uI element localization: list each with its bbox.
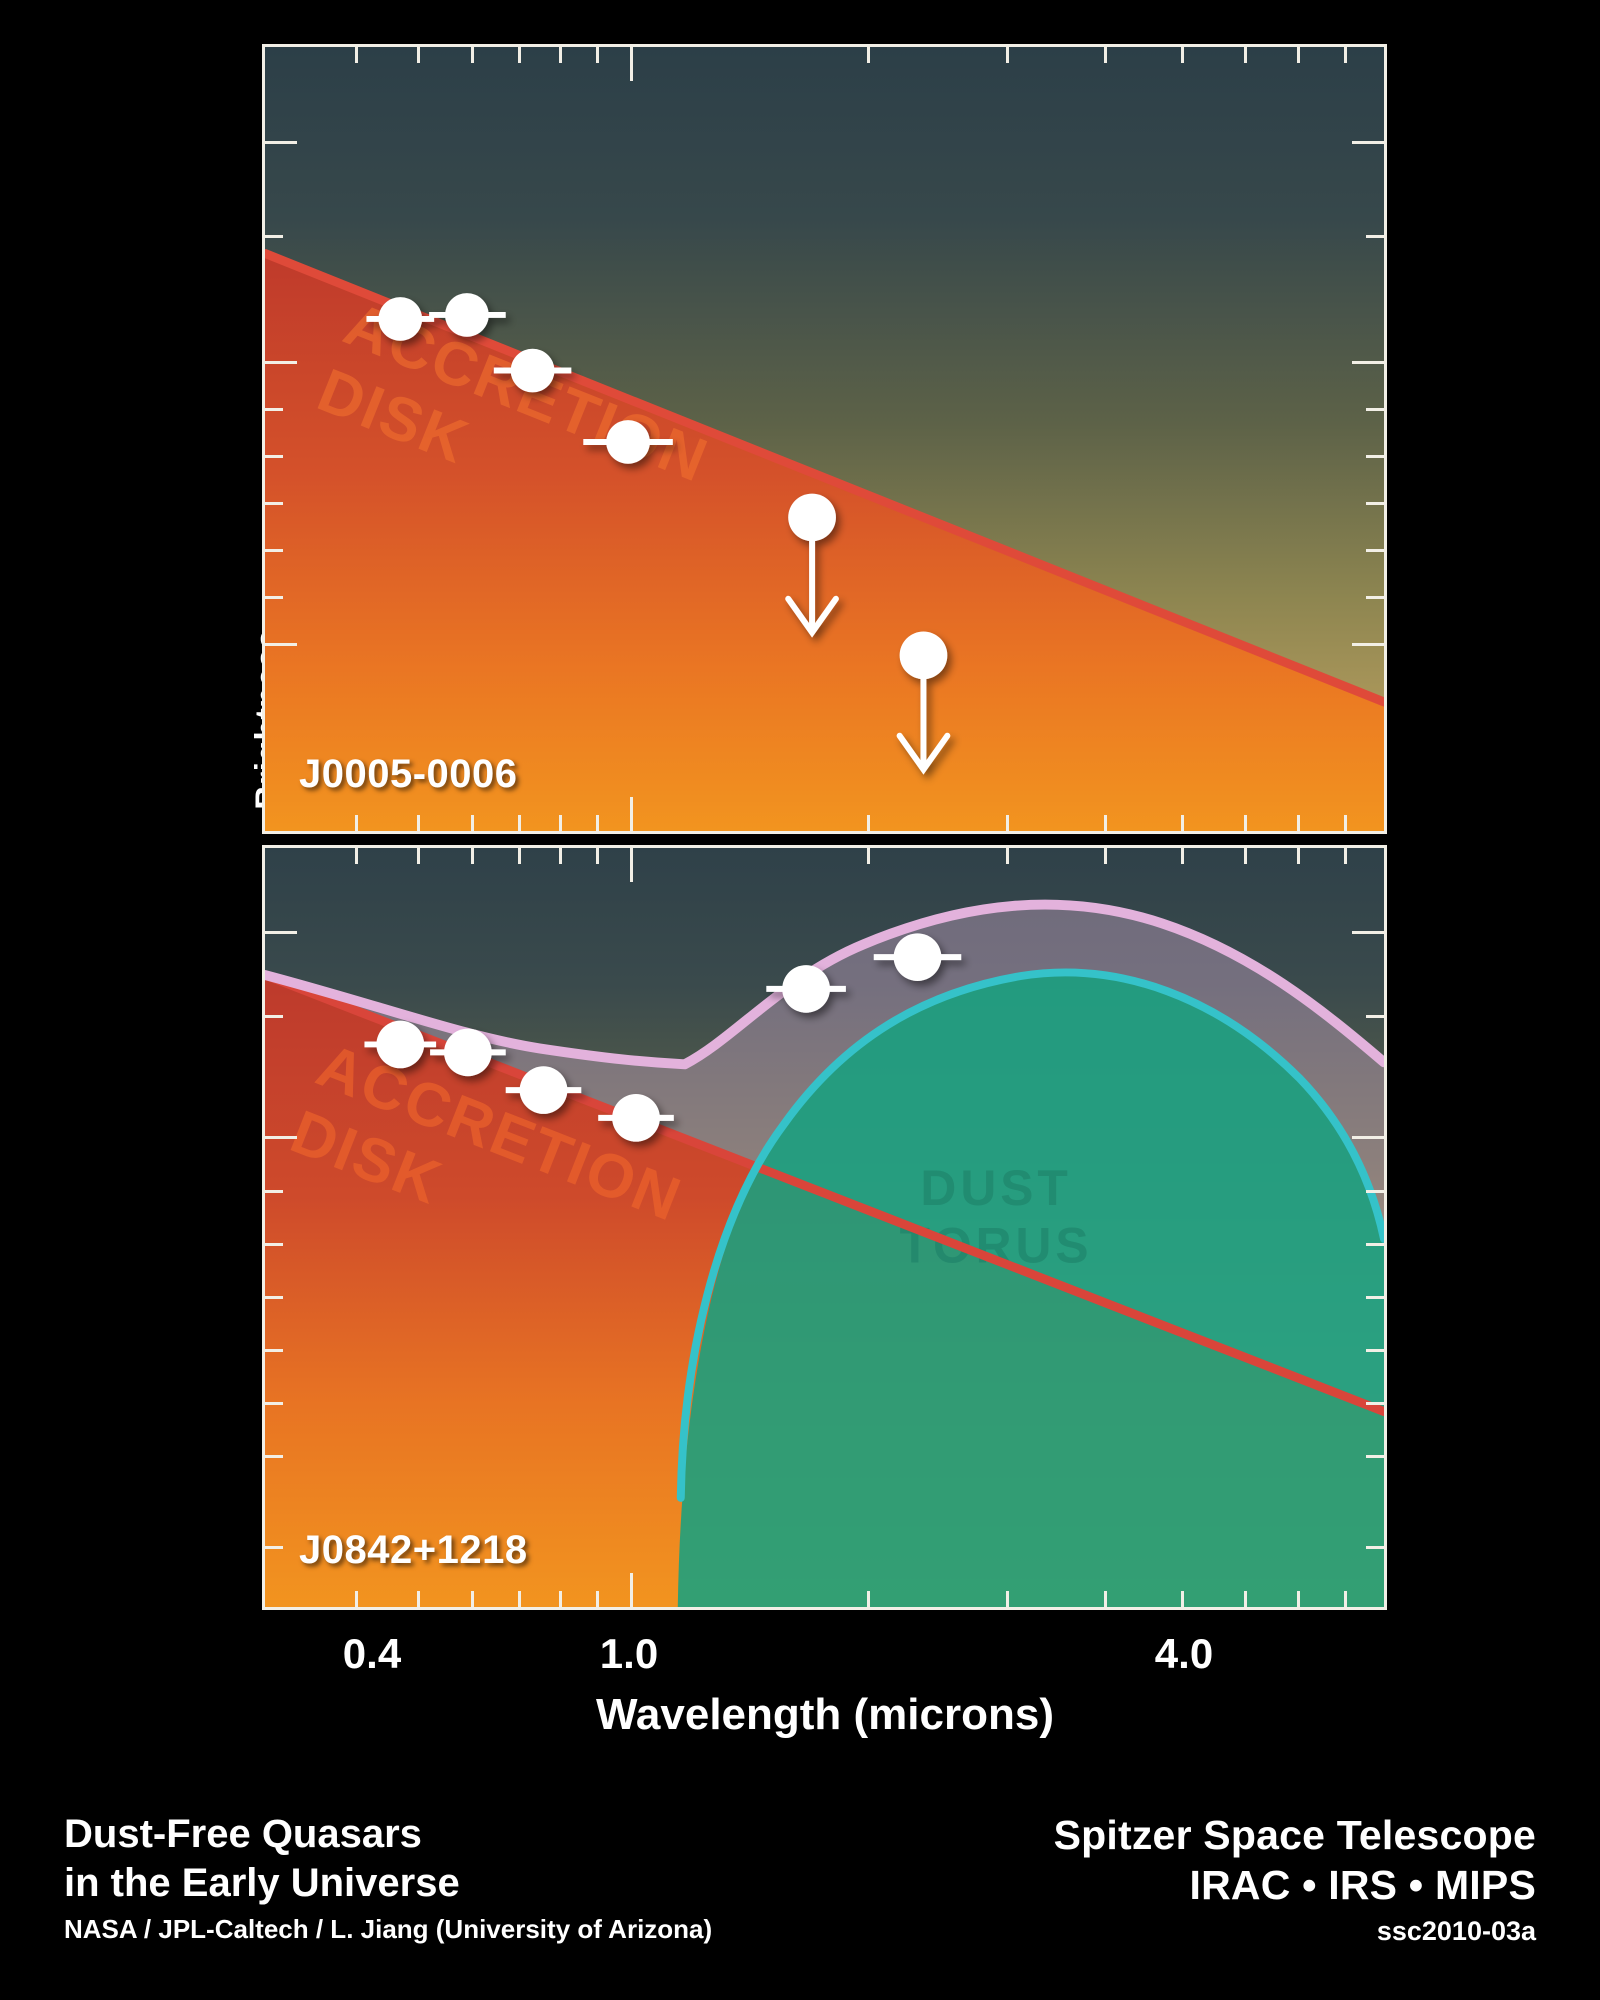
caption-title-line1: Dust-Free Quasars bbox=[64, 1810, 712, 1859]
figure-canvas: Brightness bbox=[0, 0, 1600, 2000]
tick-x bbox=[1344, 848, 1347, 864]
tick-x bbox=[1104, 815, 1107, 831]
tick-x bbox=[1006, 47, 1009, 63]
image-id: ssc2010-03a bbox=[1054, 1916, 1536, 1947]
tick-y bbox=[265, 1402, 283, 1405]
tick-x bbox=[630, 47, 633, 81]
tick-y bbox=[265, 455, 283, 458]
tick-x bbox=[596, 47, 599, 63]
tick-y bbox=[1366, 596, 1384, 599]
tick-x bbox=[559, 848, 562, 864]
xtick-label-40: 4.0 bbox=[1155, 1630, 1213, 1678]
instrument-list: IRAC • IRS • MIPS bbox=[1054, 1860, 1536, 1910]
tick-x bbox=[355, 47, 358, 63]
panel-bottom-plot: DUST TORUS ACCRETION DISK bbox=[265, 848, 1384, 1607]
tick-x bbox=[596, 815, 599, 831]
panel-title-bottom: J0842+1218 bbox=[299, 1528, 528, 1573]
xtick-label-04: 0.4 bbox=[343, 1630, 401, 1678]
tick-x bbox=[471, 1591, 474, 1607]
tick-x bbox=[518, 1591, 521, 1607]
tick-x bbox=[518, 815, 521, 831]
tick-x bbox=[471, 815, 474, 831]
tick-x bbox=[518, 47, 521, 63]
tick-y bbox=[265, 1349, 283, 1352]
x-axis-label: Wavelength (microns) bbox=[596, 1690, 1054, 1740]
tick-y bbox=[265, 141, 297, 144]
tick-x bbox=[1344, 1591, 1347, 1607]
tick-x bbox=[1181, 1591, 1184, 1607]
tick-y bbox=[1366, 455, 1384, 458]
tick-y bbox=[265, 502, 283, 505]
caption-title-line2: in the Early Universe bbox=[64, 1859, 712, 1908]
tick-y bbox=[265, 549, 283, 552]
tick-y bbox=[265, 931, 297, 934]
tick-x bbox=[1181, 47, 1184, 63]
tick-x bbox=[1181, 815, 1184, 831]
tick-y bbox=[265, 235, 283, 238]
tick-x bbox=[867, 848, 870, 864]
tick-y bbox=[1352, 141, 1384, 144]
svg-text:DUST: DUST bbox=[920, 1160, 1071, 1216]
tick-x bbox=[1006, 1591, 1009, 1607]
panel-j0005-0006: ACCRETION DISK bbox=[262, 44, 1387, 834]
tick-y bbox=[1366, 1402, 1384, 1405]
panel-title-top: J0005-0006 bbox=[299, 752, 518, 797]
tick-x bbox=[1244, 815, 1247, 831]
telescope-name: Spitzer Space Telescope bbox=[1054, 1810, 1536, 1860]
tick-x bbox=[559, 47, 562, 63]
tick-x bbox=[1104, 47, 1107, 63]
tick-x bbox=[355, 1591, 358, 1607]
tick-x bbox=[417, 1591, 420, 1607]
tick-x bbox=[867, 1591, 870, 1607]
tick-x bbox=[518, 848, 521, 864]
caption-left: Dust-Free Quasars in the Early Universe … bbox=[64, 1810, 712, 1945]
tick-x bbox=[596, 1591, 599, 1607]
caption-block: Dust-Free Quasars in the Early Universe … bbox=[0, 1800, 1600, 2000]
tick-y bbox=[1352, 1136, 1384, 1139]
tick-x bbox=[1344, 47, 1347, 63]
tick-x bbox=[1181, 848, 1184, 864]
tick-x bbox=[867, 47, 870, 63]
tick-y bbox=[265, 361, 297, 364]
tick-y bbox=[1366, 1190, 1384, 1193]
tick-x bbox=[1006, 815, 1009, 831]
tick-y bbox=[265, 1296, 283, 1299]
tick-x bbox=[471, 848, 474, 864]
tick-x bbox=[1244, 47, 1247, 63]
tick-y bbox=[265, 596, 283, 599]
tick-y bbox=[265, 1136, 297, 1139]
tick-x bbox=[630, 848, 633, 882]
caption-right: Spitzer Space Telescope IRAC • IRS • MIP… bbox=[1054, 1810, 1536, 1947]
tick-x bbox=[867, 815, 870, 831]
tick-x bbox=[1244, 848, 1247, 864]
tick-y bbox=[1352, 361, 1384, 364]
tick-x bbox=[1104, 1591, 1107, 1607]
caption-credit: NASA / JPL-Caltech / L. Jiang (Universit… bbox=[64, 1914, 712, 1945]
tick-y bbox=[265, 1243, 283, 1246]
panel-top-plot: ACCRETION DISK bbox=[265, 47, 1384, 831]
svg-text:TORUS: TORUS bbox=[900, 1218, 1093, 1274]
tick-x bbox=[559, 815, 562, 831]
tick-y bbox=[1366, 1296, 1384, 1299]
tick-y bbox=[1366, 1349, 1384, 1352]
tick-y bbox=[265, 1015, 283, 1018]
tick-x bbox=[1104, 848, 1107, 864]
tick-y bbox=[1366, 408, 1384, 411]
tick-y bbox=[1352, 643, 1384, 646]
tick-y bbox=[265, 408, 283, 411]
tick-x bbox=[1297, 815, 1300, 831]
sed-figure: Brightness bbox=[0, 0, 1600, 1760]
tick-y bbox=[1366, 235, 1384, 238]
tick-x bbox=[559, 1591, 562, 1607]
tick-y bbox=[265, 1190, 283, 1193]
panel-j0842-1218: DUST TORUS ACCRETION DISK bbox=[262, 845, 1387, 1610]
tick-y bbox=[1366, 502, 1384, 505]
tick-y bbox=[265, 1546, 283, 1549]
tick-x bbox=[1297, 848, 1300, 864]
tick-x bbox=[630, 1573, 633, 1607]
tick-x bbox=[417, 848, 420, 864]
tick-y bbox=[265, 1455, 283, 1458]
tick-x bbox=[1244, 1591, 1247, 1607]
tick-y bbox=[1366, 1243, 1384, 1246]
tick-x bbox=[1006, 848, 1009, 864]
tick-y bbox=[1366, 549, 1384, 552]
tick-y bbox=[1366, 1546, 1384, 1549]
tick-x bbox=[630, 797, 633, 831]
tick-x bbox=[1297, 47, 1300, 63]
tick-x bbox=[596, 848, 599, 864]
tick-x bbox=[1297, 1591, 1300, 1607]
tick-x bbox=[417, 815, 420, 831]
tick-x bbox=[1344, 815, 1347, 831]
xtick-label-10: 1.0 bbox=[600, 1630, 658, 1678]
tick-y bbox=[1352, 931, 1384, 934]
tick-x bbox=[417, 47, 420, 63]
tick-x bbox=[355, 815, 358, 831]
tick-y bbox=[1366, 1015, 1384, 1018]
tick-x bbox=[471, 47, 474, 63]
tick-x bbox=[355, 848, 358, 864]
tick-y bbox=[265, 643, 297, 646]
tick-y bbox=[1366, 1455, 1384, 1458]
